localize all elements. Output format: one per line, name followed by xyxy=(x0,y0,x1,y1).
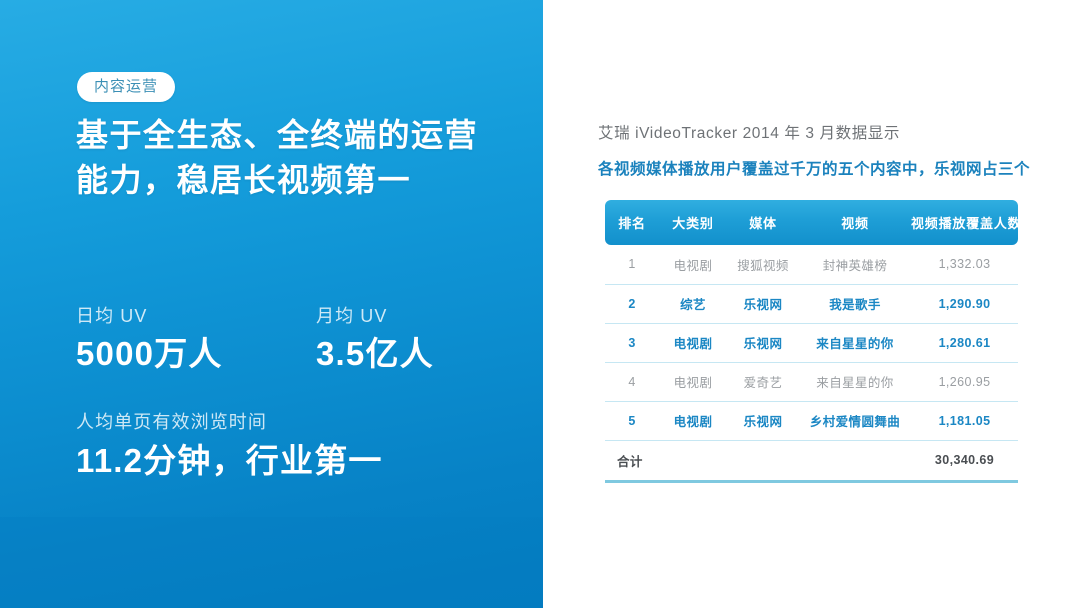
stats-row: 日均 UV 5000万人 月均 UV 3.5亿人 xyxy=(76,305,506,373)
table-header: 排名 大类别 媒体 视频 视频播放覆盖人数 xyxy=(605,200,1018,245)
stat-daily-uv: 日均 UV 5000万人 xyxy=(76,305,316,373)
column-header-video: 视频 xyxy=(799,200,911,245)
data-source-note: 艾瑞 iVideoTracker 2014 年 3 月数据显示 xyxy=(598,121,900,143)
reach-table: 排名 大类别 媒体 视频 视频播放覆盖人数 1 电视剧 搜狐视频 封神英雄榜 1… xyxy=(605,200,1018,483)
cell-category: 电视剧 xyxy=(659,245,727,284)
cell-video: 我是歌手 xyxy=(799,284,911,323)
section-badge: 内容运营 xyxy=(77,72,175,102)
table-row: 2 综艺 乐视网 我是歌手 1,290.90 xyxy=(605,284,1018,323)
cell-rank: 1 xyxy=(605,245,659,284)
cell-category: 综艺 xyxy=(659,284,727,323)
table-header-row: 排名 大类别 媒体 视频 视频播放覆盖人数 xyxy=(605,200,1018,245)
cell-category: 电视剧 xyxy=(659,401,727,440)
cell-reach: 1,332.03 xyxy=(911,245,1018,284)
cell-video: 封神英雄榜 xyxy=(799,245,911,284)
cell-rank: 2 xyxy=(605,284,659,323)
table-row: 4 电视剧 爱奇艺 来自星星的你 1,260.95 xyxy=(605,362,1018,401)
cell-reach: 1,181.05 xyxy=(911,401,1018,440)
total-spacer xyxy=(799,440,911,481)
cell-media: 搜狐视频 xyxy=(727,245,799,284)
cell-reach: 1,280.61 xyxy=(911,323,1018,362)
total-label: 合计 xyxy=(605,440,799,481)
stat-label: 月均 UV xyxy=(316,305,434,328)
reach-table-wrapper: 排名 大类别 媒体 视频 视频播放覆盖人数 1 电视剧 搜狐视频 封神英雄榜 1… xyxy=(605,200,1018,483)
stat-monthly-uv: 月均 UV 3.5亿人 xyxy=(316,305,434,373)
panel-bottom-band xyxy=(0,517,543,608)
cell-media: 乐视网 xyxy=(727,323,799,362)
table-row: 1 电视剧 搜狐视频 封神英雄榜 1,332.03 xyxy=(605,245,1018,284)
cell-video: 乡村爱情圆舞曲 xyxy=(799,401,911,440)
left-blue-panel: 内容运营 基于全生态、全终端的运营能力，稳居长视频第一 日均 UV 5000万人… xyxy=(0,0,543,608)
data-highlight-note: 各视频媒体播放用户覆盖过千万的五个内容中，乐视网占三个 xyxy=(598,157,1030,179)
stat-value: 5000万人 xyxy=(76,335,316,373)
stat-value: 11.2分钟，行业第一 xyxy=(76,442,506,480)
cell-category: 电视剧 xyxy=(659,362,727,401)
cell-category: 电视剧 xyxy=(659,323,727,362)
stat-value: 3.5亿人 xyxy=(316,335,434,373)
column-header-rank: 排名 xyxy=(605,200,659,245)
table-row: 5 电视剧 乐视网 乡村爱情圆舞曲 1,181.05 xyxy=(605,401,1018,440)
cell-video: 来自星星的你 xyxy=(799,323,911,362)
table-body: 1 电视剧 搜狐视频 封神英雄榜 1,332.03 2 综艺 乐视网 我是歌手 … xyxy=(605,245,1018,481)
total-reach: 30,340.69 xyxy=(911,440,1018,481)
page-title: 基于全生态、全终端的运营能力，稳居长视频第一 xyxy=(76,113,506,204)
cell-video: 来自星星的你 xyxy=(799,362,911,401)
table-total-row: 合计 30,340.69 xyxy=(605,440,1018,481)
column-header-category: 大类别 xyxy=(659,200,727,245)
slide-root: 内容运营 基于全生态、全终端的运营能力，稳居长视频第一 日均 UV 5000万人… xyxy=(0,0,1080,608)
table-row: 3 电视剧 乐视网 来自星星的你 1,280.61 xyxy=(605,323,1018,362)
cell-media: 乐视网 xyxy=(727,284,799,323)
column-header-reach: 视频播放覆盖人数 xyxy=(911,200,1018,245)
cell-media: 爱奇艺 xyxy=(727,362,799,401)
cell-rank: 5 xyxy=(605,401,659,440)
stat-browse-time: 人均单页有效浏览时间 11.2分钟，行业第一 xyxy=(76,411,506,480)
cell-reach: 1,260.95 xyxy=(911,362,1018,401)
right-content-panel: 艾瑞 iVideoTracker 2014 年 3 月数据显示 各视频媒体播放用… xyxy=(543,0,1080,608)
cell-rank: 4 xyxy=(605,362,659,401)
cell-reach: 1,290.90 xyxy=(911,284,1018,323)
cell-rank: 3 xyxy=(605,323,659,362)
stat-label: 日均 UV xyxy=(76,305,316,328)
stat-label: 人均单页有效浏览时间 xyxy=(76,411,506,434)
column-header-media: 媒体 xyxy=(727,200,799,245)
cell-media: 乐视网 xyxy=(727,401,799,440)
